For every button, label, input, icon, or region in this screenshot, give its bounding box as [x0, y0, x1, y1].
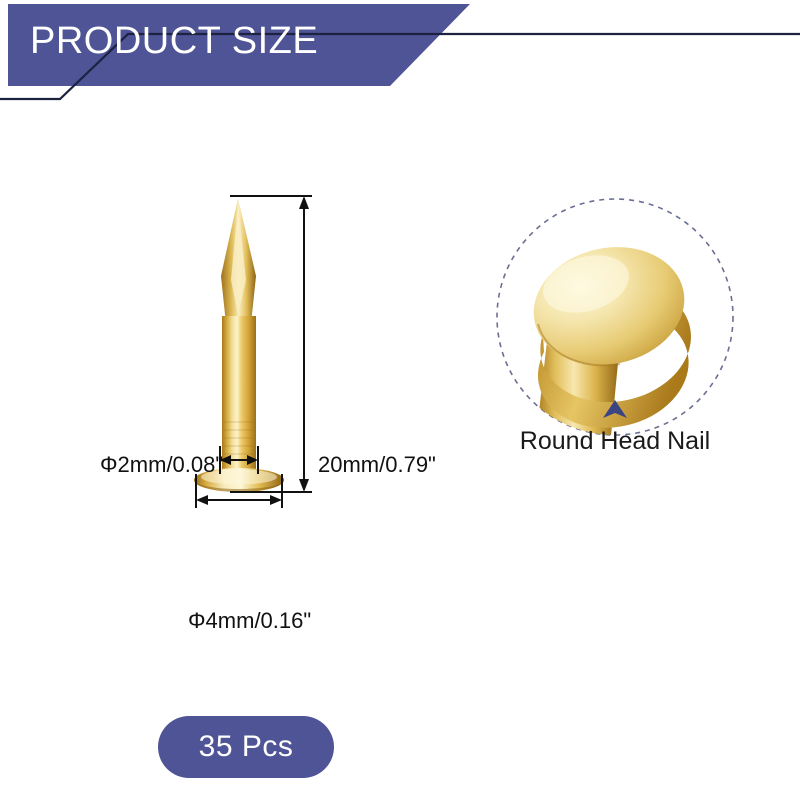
nail-shaft	[222, 316, 256, 474]
product-size-diagram: Φ2mm/0.08" 20mm/0.79" Φ4mm/0.16"	[0, 104, 800, 800]
nail-dimension-drawing	[80, 184, 400, 654]
header-banner: PRODUCT SIZE	[0, 0, 800, 104]
page-title: PRODUCT SIZE	[30, 18, 318, 64]
head-dim-arrow-right	[270, 495, 282, 505]
length-dim-arrow-bottom	[299, 479, 309, 492]
brass-nail-icon	[194, 198, 284, 492]
nail-figure: Φ2mm/0.08" 20mm/0.79" Φ4mm/0.16"	[80, 184, 400, 654]
dimension-label-head-diameter: Φ4mm/0.16"	[188, 608, 311, 634]
head-dim-arrow-left	[196, 495, 208, 505]
dimension-label-shaft-diameter: Φ2mm/0.08"	[100, 452, 223, 478]
detail-caption-label: Round Head Nail	[470, 424, 760, 458]
dimension-label-total-length: 20mm/0.79"	[318, 452, 436, 478]
quantity-badge: 35 Pcs	[158, 716, 334, 778]
triangle-up-icon	[602, 400, 628, 418]
quantity-badge-label: 35 Pcs	[199, 730, 294, 764]
detail-caption-group: Round Head Nail	[470, 400, 760, 458]
length-dim-arrow-top	[299, 196, 309, 209]
